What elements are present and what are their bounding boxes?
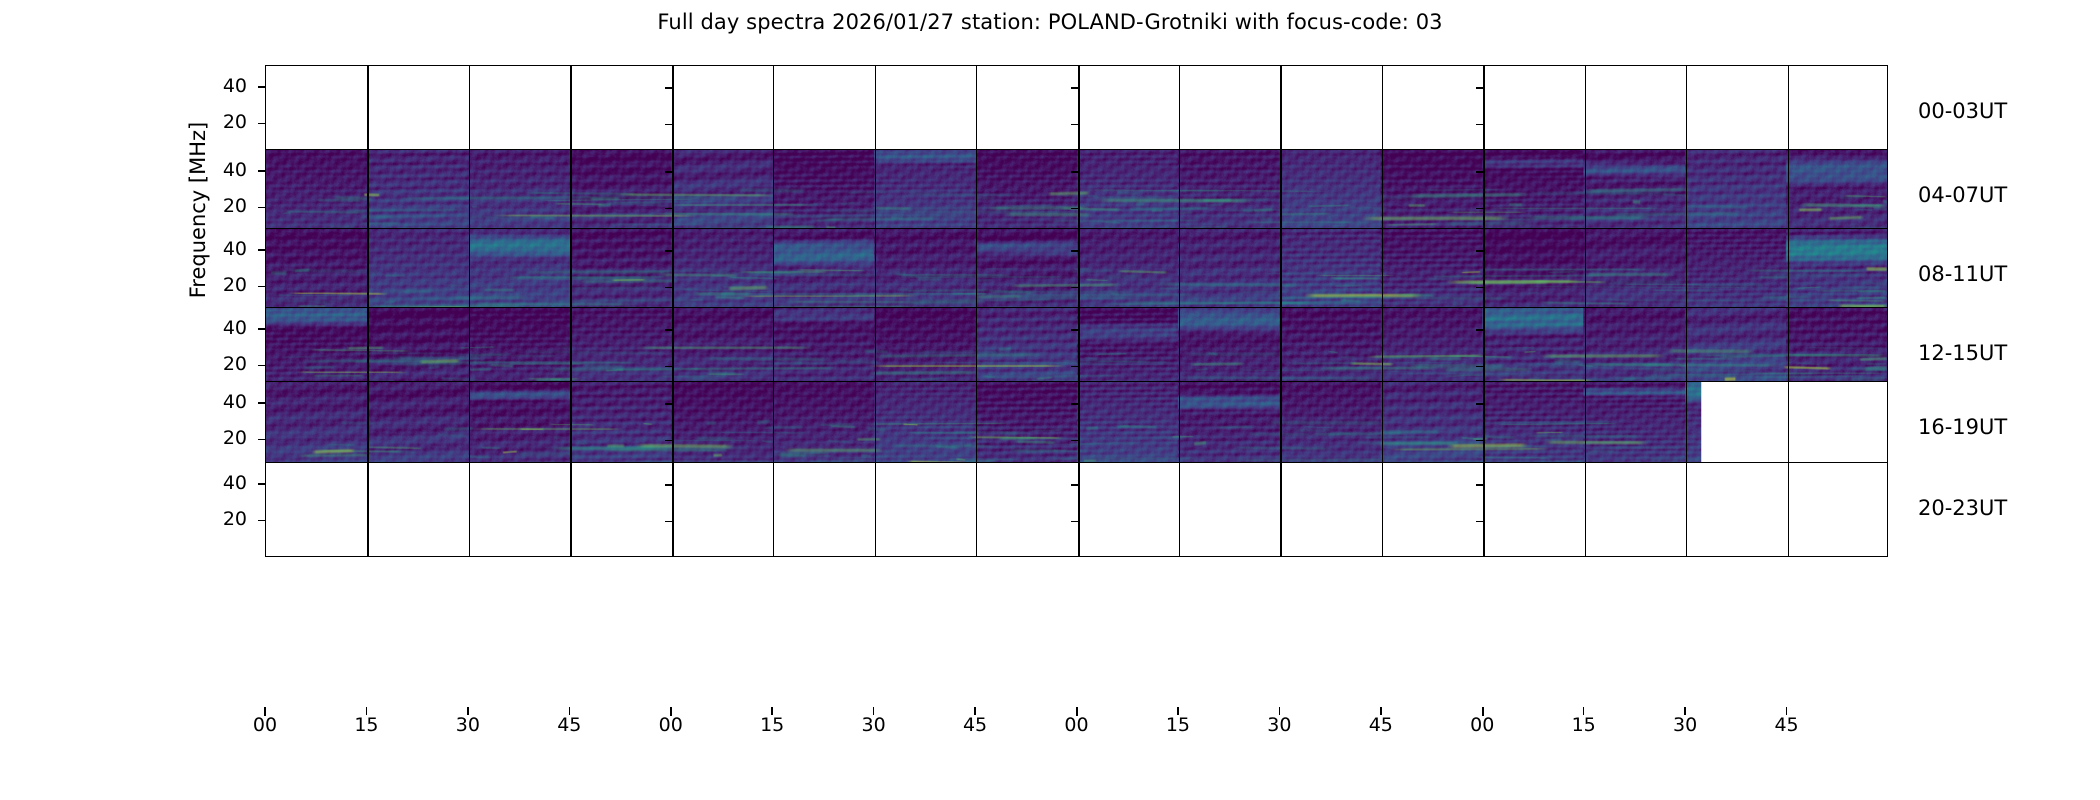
y-tick-mark bbox=[1071, 250, 1078, 251]
y-tick-mark bbox=[665, 403, 672, 404]
y-tick-mark bbox=[1071, 171, 1078, 172]
panel-divider bbox=[1078, 382, 1080, 475]
y-tick-mark bbox=[258, 123, 265, 124]
x-tick-label: 00 bbox=[649, 714, 693, 736]
y-tick-mark bbox=[1476, 521, 1483, 522]
y-tick-label: 20 bbox=[197, 111, 247, 133]
x-tick-label: 45 bbox=[1359, 714, 1403, 736]
x-tick-label: 30 bbox=[1663, 714, 1707, 736]
panel-divider bbox=[976, 463, 977, 556]
panel-divider bbox=[976, 382, 977, 475]
spectrogram-row-00-03ut[interactable] bbox=[265, 65, 1888, 160]
y-tick-mark bbox=[665, 440, 672, 441]
panel-divider bbox=[1280, 382, 1281, 475]
x-tick-label: 45 bbox=[1765, 714, 1809, 736]
row-label-04-07ut: 04-07UT bbox=[1918, 183, 2007, 207]
spectrogram-row-20-23ut[interactable] bbox=[265, 462, 1888, 557]
panel-divider bbox=[773, 66, 774, 159]
panel-divider bbox=[469, 382, 470, 475]
panel-divider bbox=[1585, 66, 1586, 159]
y-tick-mark bbox=[1071, 208, 1078, 209]
y-tick-mark bbox=[258, 439, 265, 440]
panel-divider bbox=[1686, 382, 1687, 475]
figure-title: Full day spectra 2026/01/27 station: POL… bbox=[0, 10, 2100, 34]
y-tick-mark bbox=[258, 207, 265, 208]
y-tick-label: 40 bbox=[197, 75, 247, 97]
panel-divider bbox=[1382, 382, 1383, 475]
panel-divider bbox=[1686, 463, 1687, 556]
panel-divider bbox=[1483, 463, 1485, 556]
y-tick-mark bbox=[665, 484, 672, 485]
x-tick-label: 15 bbox=[1562, 714, 1606, 736]
row-label-16-19ut: 16-19UT bbox=[1918, 415, 2007, 439]
panel-divider bbox=[570, 382, 571, 475]
y-tick-label: 20 bbox=[197, 353, 247, 375]
x-tick-label: 15 bbox=[750, 714, 794, 736]
panel-divider bbox=[1280, 463, 1281, 556]
y-tick-mark bbox=[665, 171, 672, 172]
y-tick-mark bbox=[258, 483, 265, 484]
panel-divider bbox=[875, 463, 876, 556]
x-tick-label: 30 bbox=[1257, 714, 1301, 736]
y-tick-mark bbox=[665, 124, 672, 125]
panel-divider bbox=[1585, 463, 1586, 556]
x-tick-label: 45 bbox=[953, 714, 997, 736]
y-tick-mark bbox=[665, 287, 672, 288]
y-tick-label: 20 bbox=[197, 427, 247, 449]
panel-divider bbox=[367, 463, 368, 556]
panel-divider bbox=[1788, 66, 1789, 159]
panel-divider bbox=[570, 463, 571, 556]
panel-divider bbox=[1585, 382, 1586, 475]
panel-divider bbox=[875, 382, 876, 475]
y-tick-mark bbox=[258, 402, 265, 403]
x-tick-label: 45 bbox=[547, 714, 591, 736]
y-tick-mark bbox=[1476, 484, 1483, 485]
x-tick-label: 00 bbox=[243, 714, 287, 736]
y-tick-mark bbox=[1476, 208, 1483, 209]
y-tick-mark bbox=[1476, 403, 1483, 404]
panel-divider bbox=[1078, 463, 1080, 556]
y-tick-label: 20 bbox=[197, 274, 247, 296]
x-tick-label: 00 bbox=[1055, 714, 1099, 736]
y-tick-mark bbox=[258, 170, 265, 171]
y-tick-mark bbox=[1071, 366, 1078, 367]
panel-divider bbox=[1179, 382, 1180, 475]
y-tick-mark bbox=[1071, 329, 1078, 330]
y-tick-mark bbox=[258, 286, 265, 287]
panel-divider bbox=[1483, 382, 1485, 475]
y-tick-label: 40 bbox=[197, 391, 247, 413]
y-tick-label: 40 bbox=[197, 159, 247, 181]
y-tick-mark bbox=[1476, 366, 1483, 367]
y-tick-mark bbox=[665, 329, 672, 330]
panel-divider bbox=[367, 382, 368, 475]
y-tick-mark bbox=[1071, 124, 1078, 125]
y-tick-mark bbox=[1476, 124, 1483, 125]
y-tick-mark bbox=[1071, 403, 1078, 404]
row-label-12-15ut: 12-15UT bbox=[1918, 341, 2007, 365]
panel-divider bbox=[773, 463, 774, 556]
panel-divider bbox=[1686, 66, 1687, 159]
y-tick-label: 20 bbox=[197, 508, 247, 530]
y-tick-mark bbox=[1476, 250, 1483, 251]
y-tick-label: 20 bbox=[197, 195, 247, 217]
y-tick-mark bbox=[1476, 440, 1483, 441]
panel-divider bbox=[672, 382, 674, 475]
y-tick-mark bbox=[1476, 171, 1483, 172]
y-tick-mark bbox=[665, 366, 672, 367]
row-label-00-03ut: 00-03UT bbox=[1918, 99, 2007, 123]
y-tick-mark bbox=[258, 520, 265, 521]
panel-divider bbox=[1483, 66, 1485, 159]
y-tick-mark bbox=[258, 365, 265, 366]
panel-divider bbox=[976, 66, 977, 159]
panel-divider bbox=[672, 66, 674, 159]
y-tick-mark bbox=[258, 328, 265, 329]
y-tick-mark bbox=[665, 87, 672, 88]
y-tick-mark bbox=[1071, 287, 1078, 288]
y-tick-mark bbox=[1476, 329, 1483, 330]
panel-divider bbox=[672, 463, 674, 556]
y-tick-mark bbox=[1071, 521, 1078, 522]
x-tick-label: 00 bbox=[1460, 714, 1504, 736]
y-tick-mark bbox=[1071, 87, 1078, 88]
row-label-20-23ut: 20-23UT bbox=[1918, 496, 2007, 520]
panel-divider bbox=[1788, 463, 1789, 556]
y-tick-mark bbox=[1071, 440, 1078, 441]
y-tick-label: 40 bbox=[197, 317, 247, 339]
y-tick-mark bbox=[665, 521, 672, 522]
panel-divider bbox=[1179, 66, 1180, 159]
y-tick-mark bbox=[665, 250, 672, 251]
panel-divider bbox=[469, 66, 470, 159]
panel-divider bbox=[1382, 66, 1383, 159]
x-tick-label: 30 bbox=[446, 714, 490, 736]
y-tick-label: 40 bbox=[197, 238, 247, 260]
panel-divider bbox=[1078, 66, 1080, 159]
panel-divider bbox=[367, 66, 368, 159]
panel-divider bbox=[1280, 66, 1281, 159]
row-label-08-11ut: 08-11UT bbox=[1918, 262, 2007, 286]
panel-divider bbox=[469, 463, 470, 556]
y-tick-mark bbox=[1071, 484, 1078, 485]
panel-divider bbox=[570, 66, 571, 159]
y-tick-label: 40 bbox=[197, 472, 247, 494]
panel-divider bbox=[875, 66, 876, 159]
figure-canvas: Full day spectra 2026/01/27 station: POL… bbox=[0, 0, 2100, 800]
x-tick-label: 15 bbox=[1156, 714, 1200, 736]
panel-divider bbox=[1788, 382, 1789, 475]
y-tick-mark bbox=[258, 249, 265, 250]
panel-divider bbox=[773, 382, 774, 475]
y-tick-mark bbox=[1476, 87, 1483, 88]
y-tick-mark bbox=[665, 208, 672, 209]
y-tick-mark bbox=[1476, 287, 1483, 288]
panel-divider bbox=[1382, 463, 1383, 556]
x-tick-label: 30 bbox=[852, 714, 896, 736]
y-tick-mark bbox=[258, 86, 265, 87]
panel-divider bbox=[1179, 463, 1180, 556]
x-tick-label: 15 bbox=[344, 714, 388, 736]
